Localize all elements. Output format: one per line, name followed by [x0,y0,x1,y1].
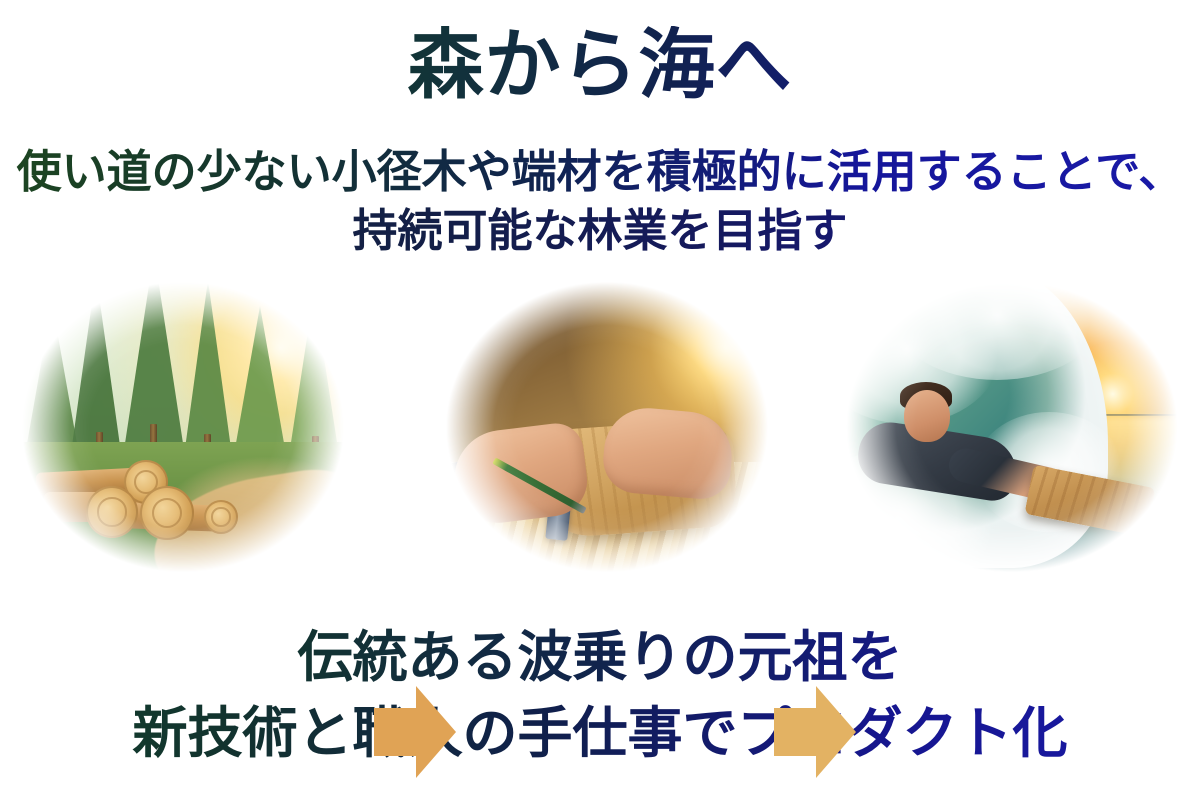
log-end-face [204,500,238,534]
arrow-right-icon [372,680,458,784]
footer-line-1: 伝統ある波乗りの元祖を [0,620,1200,696]
log-end-face [140,486,194,540]
panel-craft [432,262,782,592]
footer-line-2: 新技術と職人の手仕事でプロダクト化 [0,696,1200,772]
forest-illustration [8,262,358,592]
panel-surf [832,262,1192,592]
footer-block: 伝統ある波乗りの元祖を 新技術と職人の手仕事でプロダクト化 [0,620,1200,772]
image-strip [0,262,1200,592]
arrow-right-icon [772,680,858,784]
surf-illustration [832,262,1192,592]
panel-forest [8,262,358,592]
tree-icon [184,280,232,456]
tree-icon [124,262,184,450]
subtitle-block: 使い道の少ない小径木や端材を積極的に活用することで、 持続可能な林業を目指す [0,142,1200,261]
craft-illustration [432,262,782,592]
log-end-face [86,486,138,538]
page-title: 森から海へ [0,26,1200,107]
surfer-head [904,390,950,442]
poster-canvas: 森から海へ 使い道の少ない小径木や端材を積極的に活用することで、 持続可能な林業… [0,0,1200,800]
subtitle-line-2: 持続可能な林業を目指す [0,201,1200,260]
subtitle-line-1: 使い道の少ない小径木や端材を積極的に活用することで、 [0,142,1200,201]
